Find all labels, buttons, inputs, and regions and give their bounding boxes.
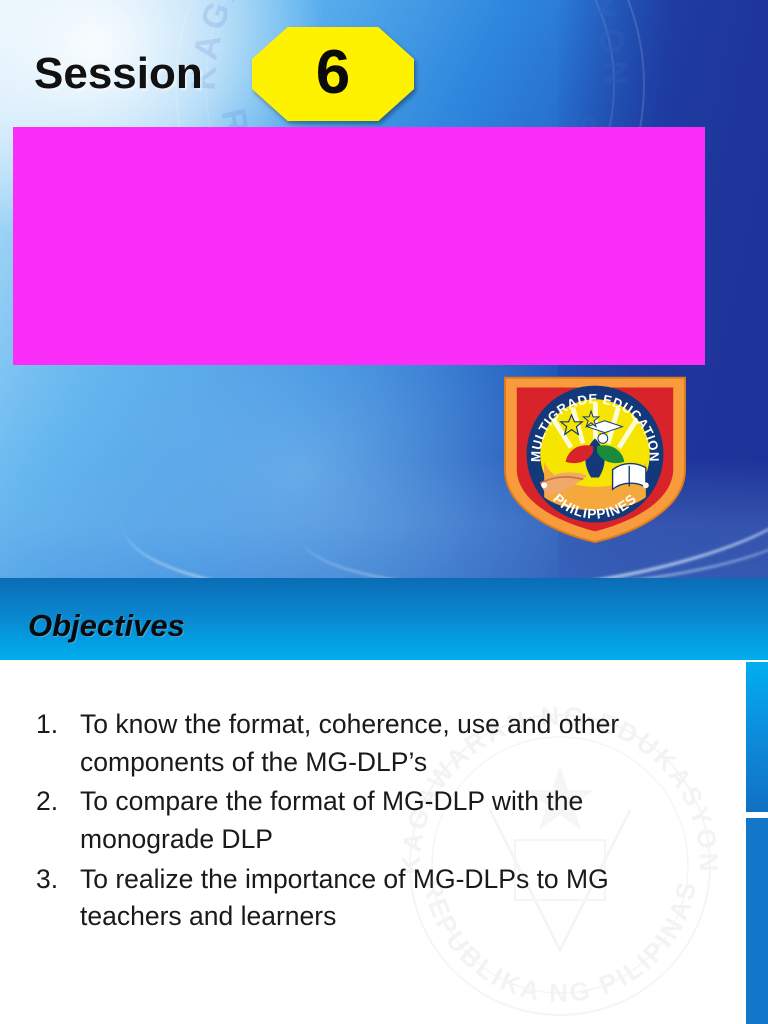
list-item-text: To know the format, coherence, use and o… xyxy=(80,706,696,781)
list-item: 2. To compare the format of MG-DLP with … xyxy=(24,783,724,858)
presentation-slide: KAGAWARAN NG EDUKASYON REPUBLIKA NG PILI… xyxy=(0,0,768,1024)
list-item-text: To compare the format of MG-DLP with the… xyxy=(80,783,696,858)
list-item-number: 1. xyxy=(24,706,80,744)
right-accent-bar-bottom xyxy=(746,818,768,1024)
session-number-value: 6 xyxy=(316,42,350,104)
list-item: 1. To know the format, coherence, use an… xyxy=(24,706,724,781)
list-item-text: To realize the importance of MG-DLPs to … xyxy=(80,861,696,936)
right-accent-bar-top xyxy=(746,662,768,812)
list-item-number: 3. xyxy=(24,861,80,899)
list-item: 3. To realize the importance of MG-DLPs … xyxy=(24,861,724,936)
multigrade-shield-icon: MULTIGRADE EDUCATION PHILIPPINES xyxy=(497,368,693,546)
content-placeholder-box[interactable] xyxy=(13,127,705,365)
multigrade-education-logo: MULTIGRADE EDUCATION PHILIPPINES xyxy=(497,368,693,546)
slide-title: Session xyxy=(34,52,304,95)
banner-title: Objectives xyxy=(28,608,185,644)
objectives-list: 1. To know the format, coherence, use an… xyxy=(24,706,724,938)
list-item-number: 2. xyxy=(24,783,80,821)
